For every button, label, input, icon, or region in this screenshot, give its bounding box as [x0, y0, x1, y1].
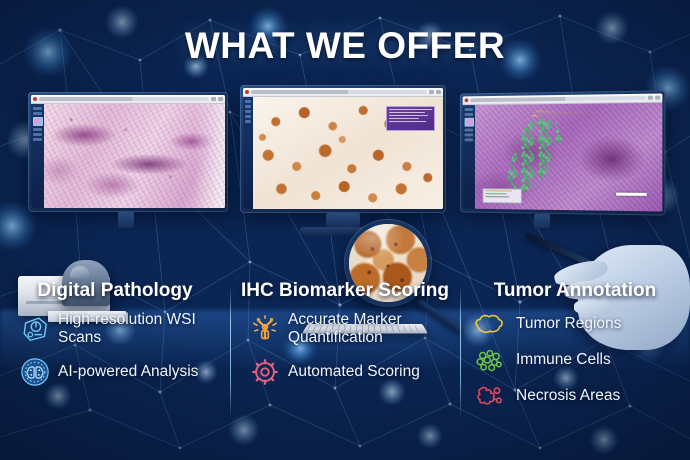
monitor-stand-neck [534, 214, 550, 228]
analysis-panel[interactable] [386, 106, 435, 131]
app-logo-icon [465, 98, 469, 102]
slide-edge-fade [194, 104, 225, 208]
ai-brain-icon [20, 357, 50, 387]
digital-pathology-monitor[interactable] [28, 92, 228, 212]
monitor-screen [243, 88, 443, 209]
feature-label: High-resolution WSI Scans [58, 311, 224, 346]
feature-item[interactable]: Immune Cells [466, 347, 684, 373]
hardware-scene [0, 80, 690, 270]
sidebar-item[interactable] [245, 120, 251, 123]
legend-entry [485, 193, 507, 195]
feature-label: Automated Scoring [288, 363, 420, 381]
slide-canvas[interactable] [44, 104, 225, 208]
monitor-bezel [28, 92, 228, 212]
toolbar-button[interactable] [218, 97, 223, 101]
panel-line [389, 115, 428, 117]
slide-thumbnail[interactable] [464, 118, 473, 127]
poster-canvas: WHAT WE OFFER [0, 0, 690, 460]
toolbar-button[interactable] [436, 90, 441, 94]
address-bar[interactable] [470, 96, 646, 102]
viewer-sidebar[interactable] [31, 104, 44, 208]
slide-thumbnail[interactable] [33, 117, 43, 126]
toolbar-button[interactable] [211, 97, 216, 101]
viewer-body [463, 103, 663, 212]
slide-canvas[interactable] [253, 97, 443, 209]
app-logo-icon [245, 90, 249, 94]
features-section: Digital Pathology High-resolution WSI Sc… [0, 280, 690, 440]
sidebar-item[interactable] [33, 133, 42, 136]
legend-entry [485, 190, 512, 192]
monitor-screen [31, 95, 225, 208]
monitor-bezel [460, 90, 666, 215]
address-bar[interactable] [39, 97, 209, 101]
app-logo-icon [33, 97, 37, 101]
column-divider [230, 286, 231, 418]
gear-icon [250, 357, 280, 387]
column-title: IHC Biomarker Scoring [236, 280, 454, 301]
scale-bar [616, 193, 647, 196]
feature-item[interactable]: Accurate Marker Quantification [236, 311, 454, 346]
necrosis-icon [472, 383, 506, 409]
sidebar-item[interactable] [33, 128, 42, 131]
scanner-icon [20, 314, 50, 344]
feature-label: AI-powered Analysis [58, 363, 198, 381]
page-title: WHAT WE OFFER [0, 25, 690, 67]
panel-line [389, 121, 426, 123]
sidebar-item[interactable] [245, 110, 251, 113]
feature-item[interactable]: Automated Scoring [236, 357, 454, 387]
viewer-sidebar[interactable] [463, 105, 475, 209]
slide-canvas[interactable] [475, 103, 662, 212]
sidebar-item[interactable] [245, 100, 251, 103]
annotation-legend [482, 188, 522, 203]
sidebar-item[interactable] [465, 129, 473, 132]
annotation-monitor[interactable] [460, 90, 666, 215]
panel-line [389, 118, 419, 120]
feature-label: Tumor Regions [516, 315, 621, 333]
sidebar-item[interactable] [245, 105, 251, 108]
sidebar-item[interactable] [465, 113, 473, 116]
toolbar-button[interactable] [655, 96, 660, 100]
feature-column-ihc-biomarker-scoring: IHC Biomarker Scoring Accurate Marker Qu… [230, 280, 460, 440]
column-title: Digital Pathology [6, 280, 224, 301]
sidebar-item[interactable] [33, 107, 42, 110]
feature-item[interactable]: Tumor Regions [466, 311, 684, 337]
monitor-screen [463, 93, 663, 211]
feature-column-tumor-annotation: Tumor Annotation Tumor Regions Immune Ce… [460, 280, 690, 440]
he-slide-image [44, 104, 225, 208]
toolbar-button[interactable] [429, 90, 434, 94]
sidebar-item[interactable] [465, 108, 473, 111]
toolbar-button[interactable] [648, 96, 653, 100]
sidebar-item[interactable] [465, 138, 473, 141]
address-bar[interactable] [251, 90, 427, 94]
sidebar-item[interactable] [33, 112, 42, 115]
viewer-sidebar[interactable] [243, 97, 253, 209]
feature-item[interactable]: AI-powered Analysis [6, 357, 224, 387]
panel-line [389, 109, 432, 111]
column-title: Tumor Annotation [466, 280, 684, 301]
tumor-region-icon [472, 311, 506, 337]
sidebar-item[interactable] [245, 115, 251, 118]
feature-label: Necrosis Areas [516, 387, 620, 405]
immune-cells-icon [472, 347, 506, 373]
column-divider [460, 286, 461, 418]
viewer-toolbar[interactable] [243, 88, 443, 97]
viewer-toolbar[interactable] [31, 95, 225, 104]
feature-item[interactable]: High-resolution WSI Scans [6, 311, 224, 346]
ihc-monitor[interactable] [240, 85, 446, 213]
feature-label: Immune Cells [516, 351, 611, 369]
antibody-icon [250, 314, 280, 344]
feature-label: Accurate Marker Quantification [288, 311, 454, 346]
feature-item[interactable]: Necrosis Areas [466, 383, 684, 409]
sidebar-item[interactable] [33, 138, 42, 141]
monitor-stand-neck [118, 212, 134, 228]
legend-entry [485, 196, 509, 198]
viewer-body [243, 97, 443, 209]
feature-column-digital-pathology: Digital Pathology High-resolution WSI Sc… [0, 280, 230, 440]
panel-line [389, 112, 425, 114]
viewer-body [31, 104, 225, 208]
sidebar-item[interactable] [465, 133, 473, 136]
monitor-bezel [240, 85, 446, 213]
